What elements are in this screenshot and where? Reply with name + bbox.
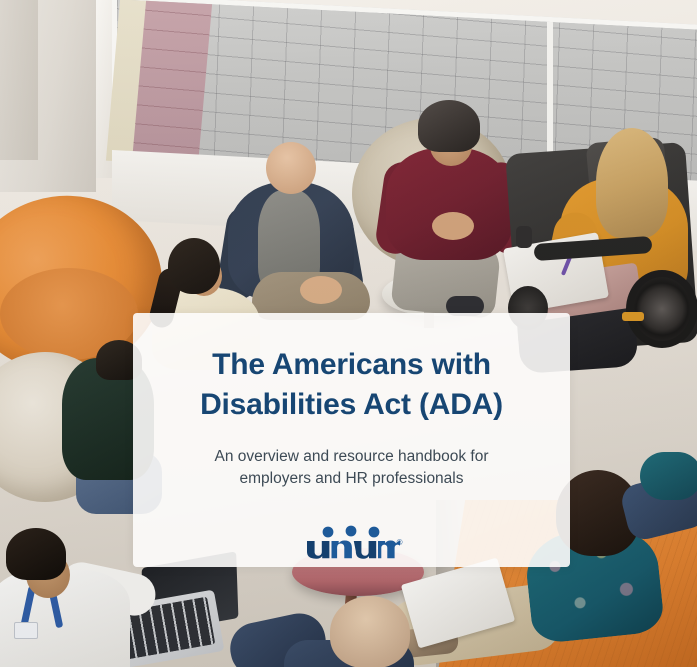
unum-logo-icon: ® bbox=[302, 525, 402, 559]
page-title: The Americans with Disabilities Act (ADA… bbox=[133, 345, 570, 424]
wheelchair-reflector bbox=[622, 312, 644, 321]
page-subtitle: An overview and resource handbook for em… bbox=[133, 446, 570, 489]
wheelchair-drive-wheel bbox=[626, 270, 697, 348]
left-wall-shadow bbox=[0, 0, 38, 160]
trademark-symbol: ® bbox=[397, 539, 403, 547]
document-cover-page: The Americans with Disabilities Act (ADA… bbox=[0, 0, 697, 667]
pavement-red-brick-strip bbox=[132, 1, 212, 166]
wheelchair-joystick bbox=[516, 226, 532, 248]
id-badge bbox=[14, 622, 38, 639]
title-card: The Americans with Disabilities Act (ADA… bbox=[133, 313, 570, 567]
